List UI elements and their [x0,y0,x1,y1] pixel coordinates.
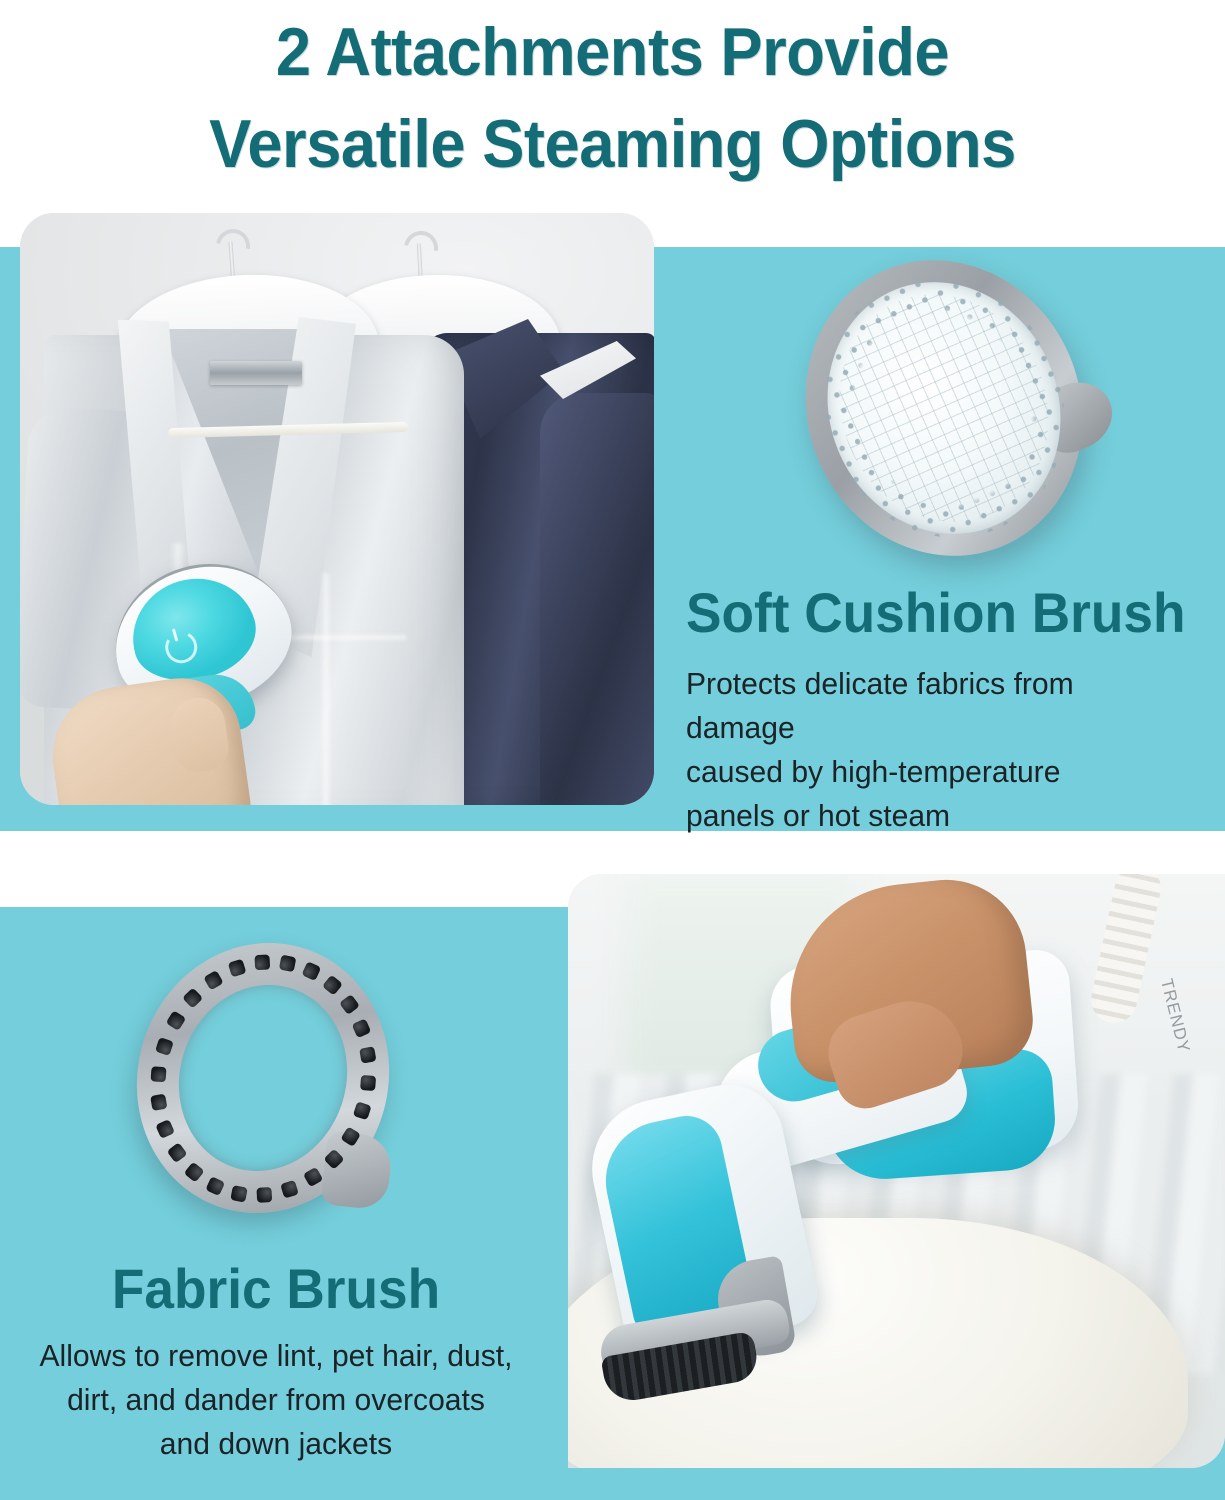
bristle-tuft [339,994,360,1015]
fabric-brush-body: Allows to remove lint, pet hair, dust, d… [8,1334,543,1466]
bristle-tuft [228,959,247,978]
garment-steaming-photo [20,213,654,805]
page-title-line-1: 2 Attachments Provide [43,6,1182,98]
bristle-tuft [155,1037,174,1056]
bristle-tuft [279,955,297,973]
bristle-tuft [151,1066,167,1082]
bristle-tuft [184,1162,205,1183]
bristle-tuft [322,975,343,996]
bristle-tuft [359,1046,376,1063]
garment-label-tag [210,361,302,385]
bristle-tuft [256,1187,272,1203]
page-title-line-2: Versatile Steaming Options [43,98,1182,190]
bristle-tuft [205,1176,225,1196]
soft-cushion-brush-title: Soft Cushion Brush [686,582,1180,644]
bristle-tuft [230,1185,248,1203]
body-line: Allows to remove lint, pet hair, dust, [8,1334,543,1378]
bristle-tuft [301,961,321,981]
bristle-tuft [360,1075,376,1091]
bristle-tuft [203,970,223,990]
body-line: panels or hot steam [686,794,1190,838]
infographic-page: 2 Attachments Provide Versatile Steaming… [0,0,1225,1500]
body-line: caused by high-temperature [686,750,1190,794]
body-line: Protects delicate fabrics from damage [686,662,1190,750]
fabric-brush-title: Fabric Brush [14,1258,538,1320]
bristle-tuft [182,987,203,1008]
bristle-tuft [303,1167,323,1187]
soft-cushion-brush-body: Protects delicate fabrics from damage ca… [686,662,1190,838]
bristle-tuft [150,1094,167,1111]
bristle-tuft [352,1018,372,1038]
bristle-tuft [340,1126,361,1147]
bristle-tuft [166,1010,187,1031]
body-line: dirt, and dander from overcoats [8,1378,543,1422]
bristle-tuft [323,1149,344,1170]
body-line: and down jackets [8,1422,543,1466]
bristle-tuft [167,1142,188,1163]
soft-cushion-brush-copy: Soft Cushion Brush Protects delicate fab… [686,582,1206,838]
steamer-on-pillow-photo: TRENDY [568,874,1225,1468]
bristle-tuft [353,1101,372,1120]
bristle-tuft [254,954,270,970]
page-title: 2 Attachments Provide Versatile Steaming… [43,0,1182,196]
fabric-brush-copy: Fabric Brush Allows to remove lint, pet … [0,1258,552,1466]
bristle-tuft [280,1180,299,1199]
bristle-tuft [155,1119,175,1139]
